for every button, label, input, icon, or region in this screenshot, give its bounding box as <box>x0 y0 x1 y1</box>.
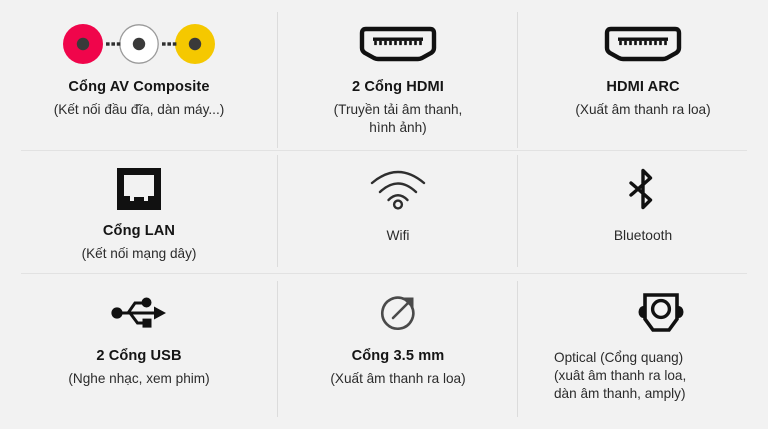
optical-port-icon <box>554 287 768 339</box>
feature-cell-lan: Cổng LAN (Kết nối mạng dây) <box>0 150 278 273</box>
feature-cell-jack-35mm: Cổng 3.5 mm (Xuất âm thanh ra loa) <box>278 273 518 429</box>
feature-subtitle: (Xuất âm thanh ra loa) <box>575 101 710 119</box>
usb-icon <box>108 287 170 339</box>
feature-title: Cổng LAN <box>82 222 197 242</box>
divider-vertical <box>517 12 518 148</box>
divider-vertical <box>277 281 278 417</box>
feature-labels: Optical (Cổng quang) (xuât âm thanh ra l… <box>554 349 686 404</box>
feature-cell-hdmi: 2 Cổng HDMI (Truyền tải âm thanh, hình ả… <box>278 0 518 150</box>
feature-title: 2 Cổng HDMI <box>334 78 463 98</box>
feature-title: 2 Cổng USB <box>68 347 209 367</box>
feature-cell-wifi: Wifi <box>278 150 518 273</box>
feature-title: Optical (Cổng quang) <box>554 349 686 367</box>
feature-subtitle: (Nghe nhạc, xem phim) <box>68 370 209 388</box>
feature-labels: Cổng LAN (Kết nối mạng dây) <box>82 222 197 263</box>
feature-labels: HDMI ARC (Xuất âm thanh ra loa) <box>575 78 710 119</box>
feature-subtitle: (Kết nối mạng dây) <box>82 245 197 263</box>
connectivity-features-grid: Cổng AV Composite (Kết nối đầu đĩa, dàn … <box>0 0 768 429</box>
feature-title: Wifi <box>387 228 410 243</box>
hdmi-port-icon <box>356 18 440 70</box>
hdmi-port-icon <box>601 18 685 70</box>
feature-subtitle: (Truyền tải âm thanh, hình ảnh) <box>334 101 463 137</box>
feature-labels: 2 Cổng HDMI (Truyền tải âm thanh, hình ả… <box>334 78 463 137</box>
divider-vertical <box>277 12 278 148</box>
feature-labels: Cổng 3.5 mm (Xuất âm thanh ra loa) <box>330 347 465 388</box>
feature-title: Cổng AV Composite <box>54 78 225 98</box>
feature-cell-usb: 2 Cổng USB (Nghe nhạc, xem phim) <box>0 273 278 429</box>
feature-subtitle: (Kết nối đầu đĩa, dàn máy...) <box>54 101 225 119</box>
divider-vertical <box>517 155 518 267</box>
divider-horizontal <box>21 150 747 151</box>
feature-subtitle: (Xuất âm thanh ra loa) <box>330 370 465 388</box>
feature-cell-av-composite: Cổng AV Composite (Kết nối đầu đĩa, dàn … <box>0 0 278 150</box>
feature-title: HDMI ARC <box>575 78 710 98</box>
feature-labels: Cổng AV Composite (Kết nối đầu đĩa, dàn … <box>54 78 225 119</box>
audio-out-arrow-icon <box>375 287 421 339</box>
bluetooth-icon <box>627 164 659 214</box>
feature-cell-optical: Optical (Cổng quang) (xuât âm thanh ra l… <box>518 273 768 429</box>
feature-subtitle: Optical (Cổng quang) (xuât âm thanh ra l… <box>554 349 686 404</box>
feature-labels: 2 Cổng USB (Nghe nhạc, xem phim) <box>68 347 209 388</box>
feature-cell-bluetooth: Bluetooth <box>518 150 768 273</box>
feature-title: Bluetooth <box>614 228 672 243</box>
divider-vertical <box>517 281 518 417</box>
divider-horizontal <box>21 273 747 274</box>
feature-cell-hdmi-arc: HDMI ARC (Xuất âm thanh ra loa) <box>518 0 768 150</box>
lan-port-icon <box>115 164 163 214</box>
wifi-icon <box>367 164 429 214</box>
av-composite-icon <box>61 18 217 70</box>
divider-vertical <box>277 155 278 267</box>
feature-title: Cổng 3.5 mm <box>330 347 465 367</box>
